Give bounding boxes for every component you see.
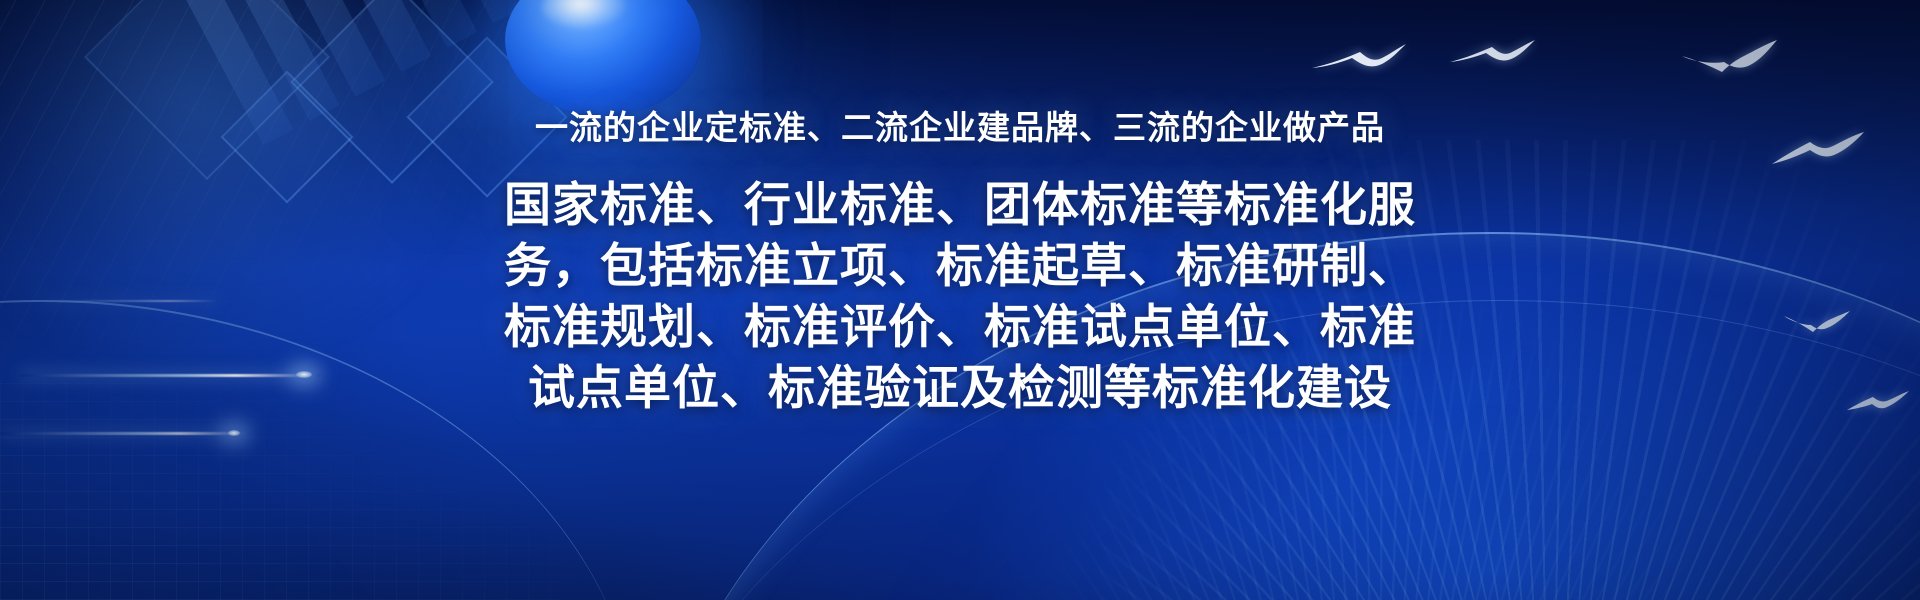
banner-headline: 一流的企业定标准、二流企业建品牌、三流的企业做产品 (535, 108, 1385, 148)
banner-body-line-1: 国家标准、行业标准、团体标准等标准化服 (440, 174, 1480, 235)
promo-banner: 一流的企业定标准、二流企业建品牌、三流的企业做产品 国家标准、行业标准、团体标准… (0, 0, 1920, 600)
banner-body-line-3: 标准规划、标准评价、标准试点单位、标准 (440, 296, 1480, 357)
banner-body-line-2: 务，包括标准立项、标准起草、标准研制、 (440, 235, 1480, 296)
banner-body-text: 国家标准、行业标准、团体标准等标准化服 务，包括标准立项、标准起草、标准研制、 … (440, 174, 1480, 418)
banner-body-line-4: 试点单位、标准验证及检测等标准化建设 (440, 357, 1480, 418)
banner-text-block: 一流的企业定标准、二流企业建品牌、三流的企业做产品 国家标准、行业标准、团体标准… (0, 0, 1920, 600)
